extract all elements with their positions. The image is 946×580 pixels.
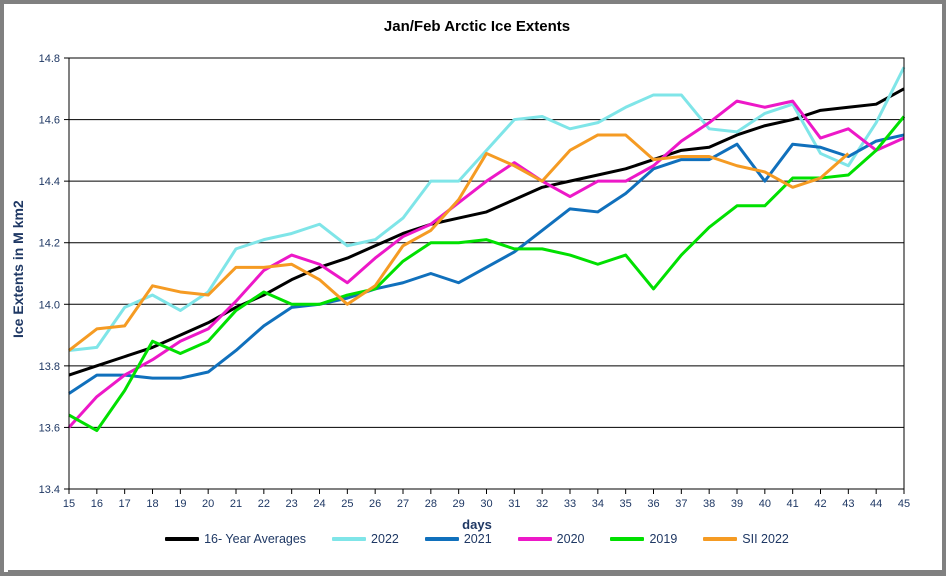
x-tick-label: 37 (675, 498, 687, 510)
legend-divider (8, 570, 946, 573)
legend-label: 2019 (649, 532, 677, 546)
y-tick-label: 14.8 (39, 53, 60, 65)
legend-swatch-icon (610, 537, 644, 541)
x-tick-label: 20 (202, 498, 214, 510)
series-line-1 (69, 67, 904, 350)
y-tick-label: 13.8 (39, 361, 60, 373)
x-tick-label: 35 (620, 498, 632, 510)
x-tick-label: 27 (397, 498, 409, 510)
x-tick-label: 39 (731, 498, 743, 510)
y-tick-label: 14.6 (39, 115, 60, 127)
y-tick-label: 14.0 (39, 299, 60, 311)
legend-swatch-icon (703, 537, 737, 541)
legend-swatch-icon (332, 537, 366, 541)
legend-swatch-icon (425, 537, 459, 541)
x-tick-label: 21 (230, 498, 242, 510)
legend-label: 2020 (557, 532, 585, 546)
legend-item-2[interactable]: 2021 (425, 532, 492, 546)
y-axis-ticks: 13.413.613.814.014.214.414.614.8 (39, 53, 69, 496)
x-tick-label: 25 (341, 498, 353, 510)
x-tick-label: 34 (592, 498, 604, 510)
series-line-0 (69, 89, 904, 375)
x-axis-ticks: 1516171819202122232425262728293031323334… (63, 489, 910, 510)
x-tick-label: 31 (508, 498, 520, 510)
chart-legend: 16- Year Averages2022202120202019SII 202… (4, 532, 946, 546)
x-tick-label: 18 (146, 498, 158, 510)
x-tick-label: 42 (814, 498, 826, 510)
x-tick-label: 29 (453, 498, 465, 510)
x-tick-label: 36 (647, 498, 659, 510)
x-tick-label: 15 (63, 498, 75, 510)
x-tick-label: 40 (759, 498, 771, 510)
x-tick-label: 41 (787, 498, 799, 510)
legend-item-3[interactable]: 2020 (518, 532, 585, 546)
x-tick-label: 44 (870, 498, 882, 510)
x-tick-label: 19 (174, 498, 186, 510)
series-lines (69, 67, 904, 430)
x-tick-label: 33 (564, 498, 576, 510)
legend-label: SII 2022 (742, 532, 789, 546)
x-tick-label: 43 (842, 498, 854, 510)
chart-window: Jan/Feb Arctic Ice Extents Ice Extents i… (0, 0, 946, 576)
legend-label: 2022 (371, 532, 399, 546)
legend-swatch-icon (165, 537, 199, 541)
x-tick-label: 23 (286, 498, 298, 510)
legend-swatch-icon (518, 537, 552, 541)
legend-item-5[interactable]: SII 2022 (703, 532, 789, 546)
y-tick-label: 13.6 (39, 422, 60, 434)
x-tick-label: 32 (536, 498, 548, 510)
x-tick-label: 24 (313, 498, 325, 510)
chart-canvas: 13.413.613.814.014.214.414.614.8 1516171… (4, 4, 946, 580)
y-tick-label: 14.4 (39, 176, 60, 188)
x-tick-label: 22 (258, 498, 270, 510)
x-tick-label: 16 (91, 498, 103, 510)
x-tick-label: 26 (369, 498, 381, 510)
legend-label: 2021 (464, 532, 492, 546)
legend-item-0[interactable]: 16- Year Averages (165, 532, 306, 546)
legend-item-1[interactable]: 2022 (332, 532, 399, 546)
y-tick-label: 13.4 (39, 484, 60, 496)
legend-item-4[interactable]: 2019 (610, 532, 677, 546)
x-tick-label: 45 (898, 498, 910, 510)
y-tick-label: 14.2 (39, 238, 60, 250)
legend-label: 16- Year Averages (204, 532, 306, 546)
x-tick-label: 38 (703, 498, 715, 510)
x-tick-label: 30 (480, 498, 492, 510)
x-tick-label: 17 (119, 498, 131, 510)
gridlines (69, 120, 904, 428)
plot-area: 13.413.613.814.014.214.414.614.8 1516171… (4, 4, 946, 580)
x-tick-label: 28 (425, 498, 437, 510)
series-line-2 (69, 135, 904, 394)
